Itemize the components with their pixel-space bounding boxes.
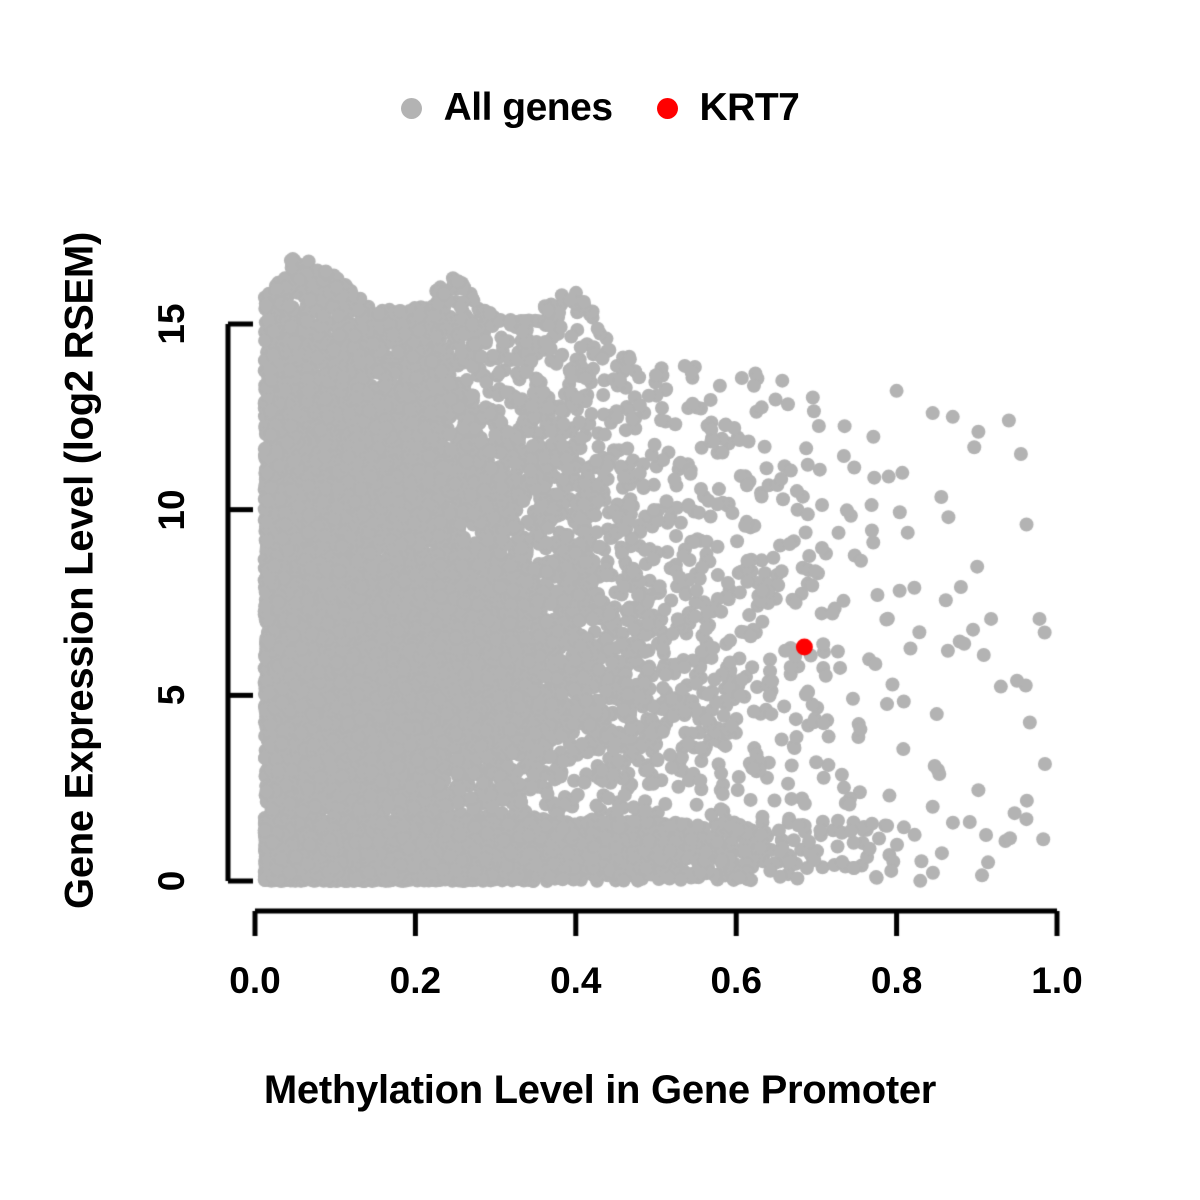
x-tick-label: 0.2	[390, 960, 441, 1002]
legend-label-krt7: KRT7	[700, 86, 800, 130]
x-tick-label: 0.8	[871, 960, 922, 1002]
y-tick-label: 5	[151, 685, 193, 706]
y-tick-label: 10	[151, 489, 193, 530]
legend-entry-all-genes: All genes	[401, 86, 613, 130]
gray-dot-icon	[401, 98, 422, 119]
scatter-plot-canvas	[0, 0, 1200, 1200]
y-axis-title-wrapper: Gene Expression Level (log2 RSEM)	[58, 0, 103, 1171]
y-tick-label: 15	[151, 303, 193, 344]
y-tick-label: 0	[151, 871, 193, 892]
legend-label-all-genes: All genes	[444, 86, 613, 130]
chart-legend: All genes KRT7	[0, 78, 1200, 138]
x-tick-label: 0.6	[710, 960, 761, 1002]
x-tick-label: 1.0	[1031, 960, 1082, 1002]
x-axis-title: Methylation Level in Gene Promoter	[0, 1068, 1200, 1113]
legend-entry-krt7: KRT7	[657, 86, 800, 130]
red-dot-icon	[657, 98, 678, 119]
x-tick-label: 0.0	[229, 960, 280, 1002]
x-tick-label: 0.4	[550, 960, 601, 1002]
y-axis-title: Gene Expression Level (log2 RSEM)	[58, 232, 102, 909]
scatter-plot-figure: All genes KRT7 Methylation Level in Gene…	[0, 0, 1200, 1200]
